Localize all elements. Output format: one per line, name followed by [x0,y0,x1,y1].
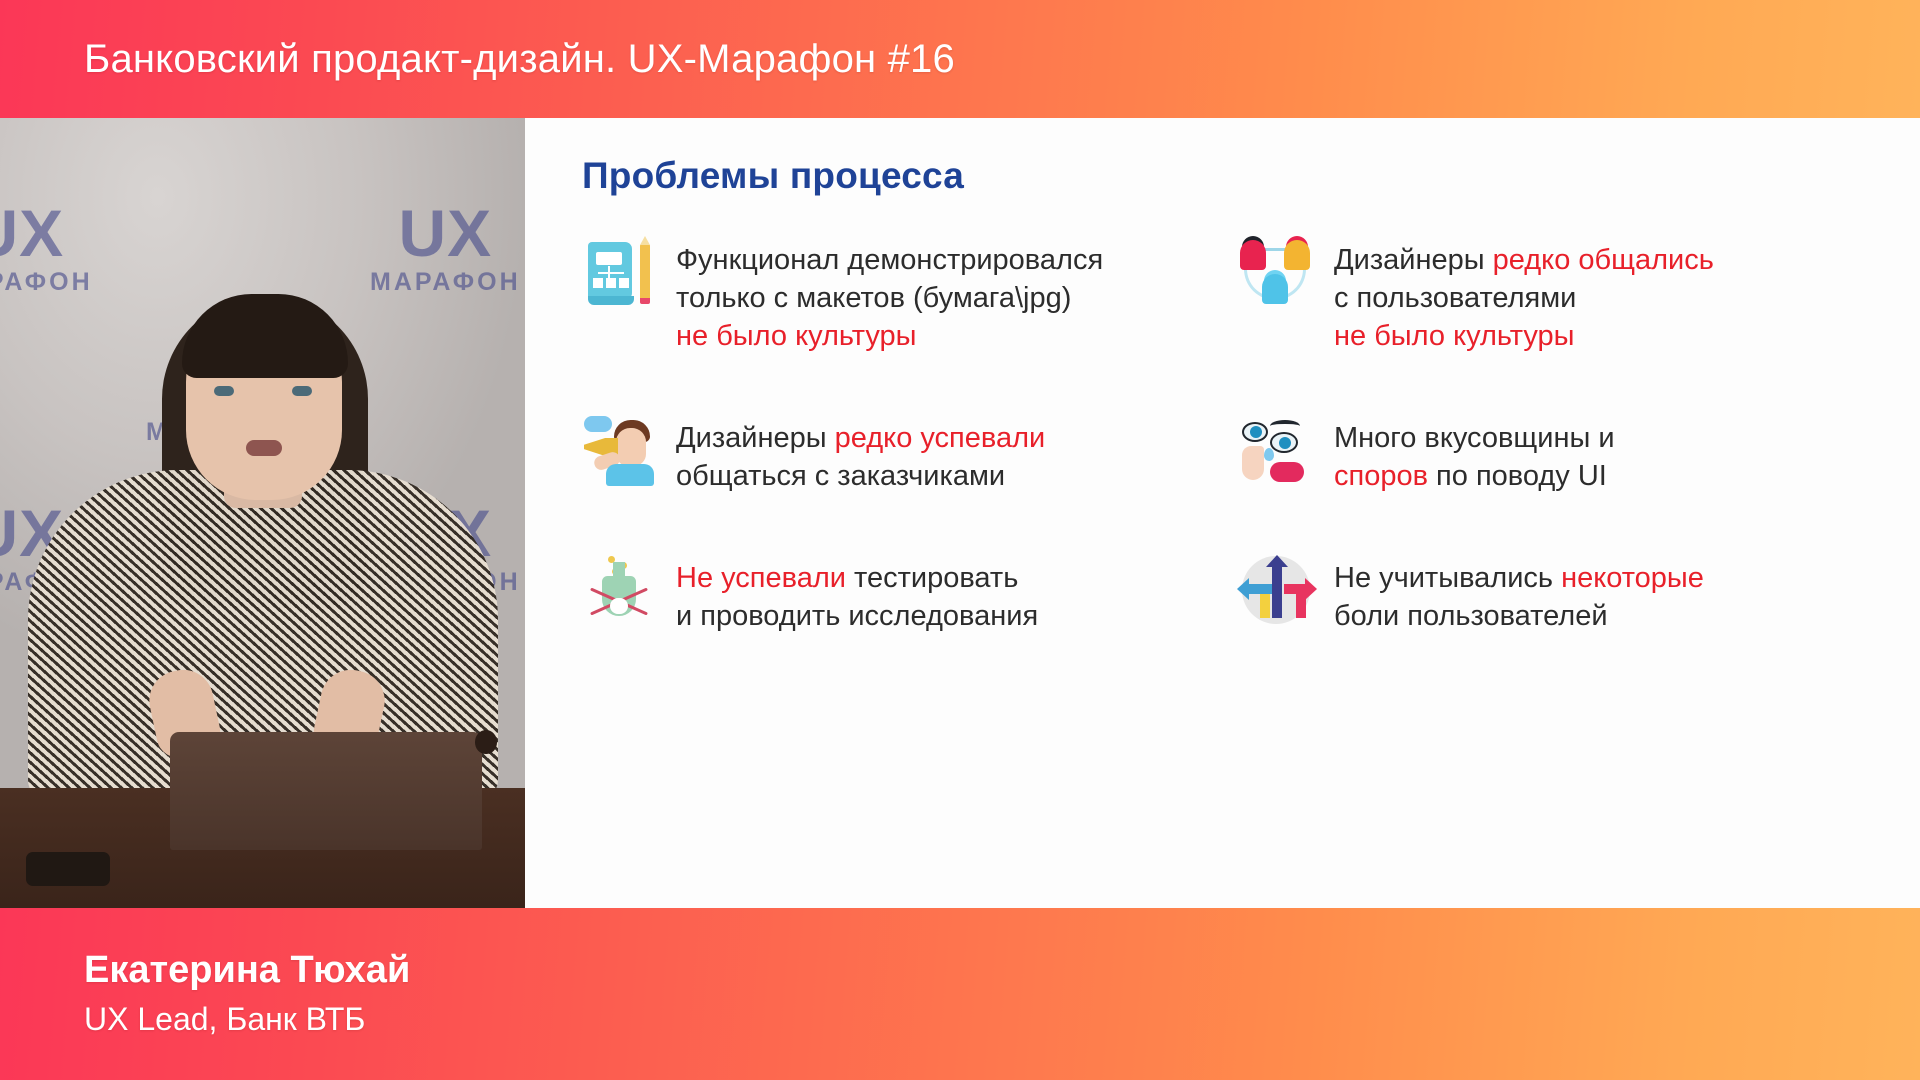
item-line-1-highlight: редко успевали [835,422,1046,454]
item-line-1: Функционал демонстрировался [676,244,1103,276]
item-line-1: Дизайнеры [1334,244,1493,276]
item-line-1: Не учитывались [1334,562,1561,594]
item-line-2: и проводить исследования [676,600,1038,632]
speaker-name: Екатерина Тюхай [84,947,1920,995]
list-item: Дизайнеры редко общались с пользователям… [1240,240,1919,356]
list-item-text: Функционал демонстрировался только с мак… [676,240,1103,356]
notebook-pencil-icon [582,236,656,310]
list-item: Не успевали тестировать и проводить иссл… [582,558,1222,636]
item-line-1-highlight: Не успевали [676,562,846,594]
item-line-2: боли пользователей [1334,600,1608,632]
phone [26,852,110,886]
list-item: Много вкусовщины и споров по поводу UI [1240,418,1919,496]
backdrop-logo-ux: UX [370,200,521,266]
broadcast-stage: Банковский продакт-дизайн. UX-Марафон #1… [0,0,1920,1080]
people-network-icon [1240,236,1314,310]
item-line-2: только с макетов (бумага\jpg) [676,282,1071,314]
top-banner: Банковский продакт-дизайн. UX-Марафон #1… [0,0,1920,118]
list-item: Функционал демонстрировался только с мак… [582,240,1222,356]
slide-column-left: Функционал демонстрировался только с мак… [525,240,1222,698]
item-line-2-highlight: споров [1334,460,1428,492]
speaker-mouth [246,440,282,456]
presentation-slide: Проблемы процесса Функционал демонстриро… [525,118,1920,908]
list-item: Дизайнеры редко успевали общаться с зака… [582,418,1222,496]
arrows-directions-icon [1240,554,1314,628]
item-line-2: по поводу UI [1428,460,1607,492]
item-line-2: общаться с заказчиками [676,460,1005,492]
speaker-eye-right [292,386,312,396]
speaker-lower-third: Екатерина Тюхай UX Lead, Банк ВТБ [0,908,1920,1080]
speaker-eye-left [214,386,234,396]
item-line-1: тестировать [846,562,1018,594]
item-line-1-highlight: редко общались [1493,244,1714,276]
speaker-video-panel[interactable]: UX МАРАФОН UX МАРАФОН UX МАРАФОН UX МАРА… [0,118,525,908]
item-line-1-highlight: некоторые [1561,562,1704,594]
item-line-1: Дизайнеры [676,422,835,454]
megaphone-person-icon [582,414,656,488]
list-item-text: Дизайнеры редко общались с пользователям… [1334,240,1714,356]
event-title: Банковский продакт-дизайн. UX-Марафон #1… [84,37,955,82]
flask-crossed-out-icon [582,554,656,628]
list-item-text: Не учитывались некоторые боли пользовате… [1334,558,1704,636]
laptop [170,732,482,850]
slide-column-right: Дизайнеры редко общались с пользователям… [1222,240,1919,698]
content-region: UX МАРАФОН UX МАРАФОН UX МАРАФОН UX МАРА… [0,118,1920,908]
list-item-text: Много вкусовщины и споров по поводу UI [1334,418,1615,496]
backdrop-logo-ux: UX [0,200,93,266]
speaker-role: UX Lead, Банк ВТБ [84,998,1920,1041]
list-item-text: Дизайнеры редко успевали общаться с зака… [676,418,1045,496]
item-line-3-highlight: не было культуры [1334,318,1714,356]
list-item-text: Не успевали тестировать и проводить иссл… [676,558,1038,636]
item-line-3-highlight: не было культуры [676,318,1103,356]
list-item: Не учитывались некоторые боли пользовате… [1240,558,1919,636]
face-eyes-lips-icon [1240,414,1314,488]
item-line-1: Много вкусовщины и [1334,422,1615,454]
slide-columns: Функционал демонстрировался только с мак… [525,240,1920,698]
item-line-2: с пользователями [1334,282,1576,314]
speaker-bangs [182,294,348,378]
slide-title: Проблемы процесса [582,155,964,197]
apple-logo-icon [475,730,497,754]
